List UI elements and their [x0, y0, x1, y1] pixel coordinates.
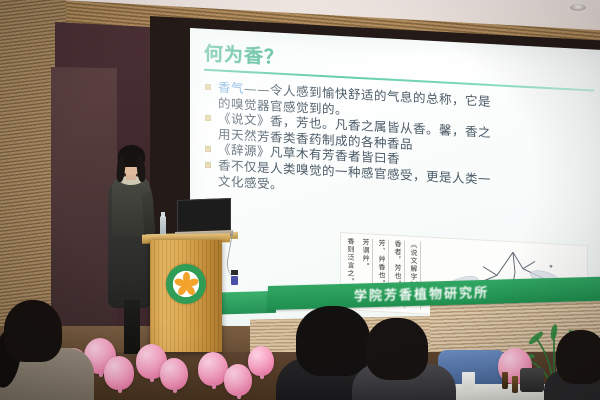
downlight-icon: [570, 4, 586, 11]
far-right-attendee-head: [556, 330, 600, 384]
balloon: [160, 358, 188, 390]
bullet-square-icon: [205, 161, 211, 167]
banner-text: 学院芳香植物研究所: [354, 282, 489, 305]
bullet-square-icon: [205, 83, 211, 89]
sample-vial: [502, 372, 508, 389]
balloon: [104, 356, 134, 390]
dark-jar: [520, 368, 544, 392]
balloon: [224, 364, 252, 396]
podium: [150, 240, 222, 352]
laptop-screen-content: [180, 201, 228, 232]
bullet-square-icon: [205, 145, 211, 151]
paper-cup: [462, 372, 475, 390]
presenter-legs: [124, 300, 140, 354]
bullet-accent-text: 香气: [218, 79, 244, 95]
emblem-center: [183, 281, 189, 287]
microphone-plug: [231, 276, 238, 285]
water-bottle: [160, 216, 166, 236]
lecture-hall-photo: 何为香？ 香气——令人感到愉快舒适的气息的总称，它是 的嗅觉器官感觉到的。 《说…: [0, 0, 600, 400]
sample-vial: [512, 376, 518, 393]
front-center-attendee-head: [296, 306, 370, 376]
bullet-square-icon: [205, 114, 211, 120]
microphone-cable-band: [231, 270, 238, 275]
front-right-attendee-head: [366, 318, 428, 380]
slide-bullet-list: 香气——令人感到愉快舒适的气息的总称，它是 的嗅觉器官感觉到的。 《说文》香，芳…: [204, 78, 600, 209]
front-left-attendee-head: [4, 300, 62, 362]
flower-emblem-icon: [166, 264, 206, 304]
balloon: [248, 346, 274, 376]
